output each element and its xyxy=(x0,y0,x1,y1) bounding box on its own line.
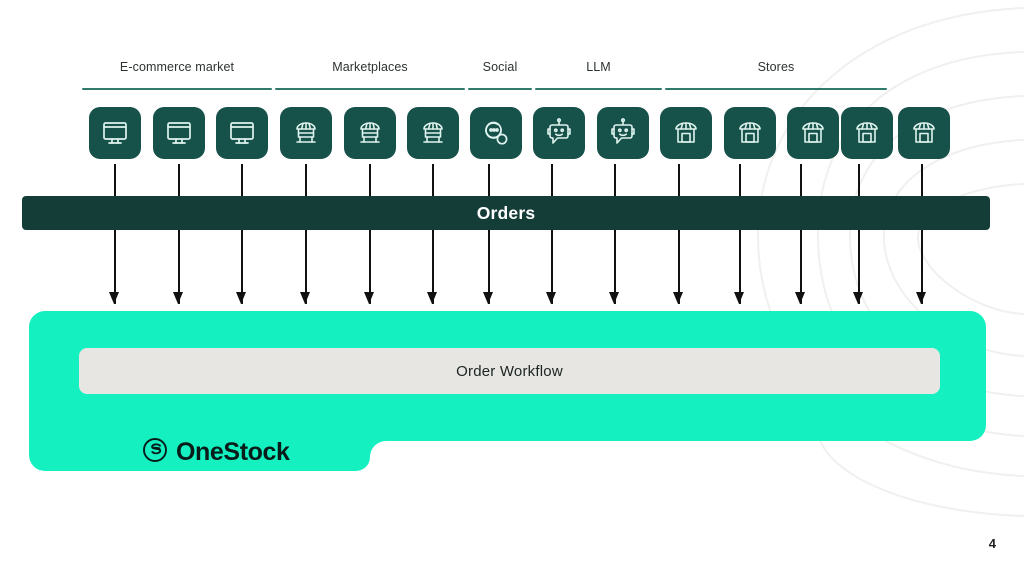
category-rule-stores xyxy=(665,88,887,90)
flow-arrow-head-6 xyxy=(427,292,437,304)
channel-tile-8[interactable] xyxy=(533,107,585,159)
channel-tile-4[interactable] xyxy=(280,107,332,159)
flow-arrow-head-8 xyxy=(546,292,556,304)
channel-tile-14[interactable] xyxy=(898,107,950,159)
marketplace-stall-icon xyxy=(354,117,386,149)
page-number: 4 xyxy=(989,536,996,551)
order-workflow-label: Order Workflow xyxy=(456,363,563,380)
flow-arrow-head-3 xyxy=(236,292,246,304)
category-label-marketplaces: Marketplaces xyxy=(275,60,465,74)
storefront-icon xyxy=(670,117,702,149)
orders-bar-label: Orders xyxy=(477,203,536,224)
flow-arrow-head-10 xyxy=(673,292,683,304)
desktop-monitor-icon xyxy=(226,117,258,149)
desktop-monitor-icon xyxy=(163,117,195,149)
channel-tile-5[interactable] xyxy=(344,107,396,159)
flow-arrow-head-4 xyxy=(300,292,310,304)
flow-arrow-line-12 xyxy=(800,164,802,304)
storefront-icon xyxy=(797,117,829,149)
orders-bar: Orders xyxy=(22,196,990,230)
marketplace-stall-icon xyxy=(417,117,449,149)
category-label-ecommerce-market: E-commerce market xyxy=(82,60,272,74)
flow-arrow-head-14 xyxy=(916,292,926,304)
channel-tile-2[interactable] xyxy=(153,107,205,159)
flow-arrow-line-6 xyxy=(432,164,434,304)
chatbot-robot-icon xyxy=(543,117,575,149)
channel-tile-1[interactable] xyxy=(89,107,141,159)
category-label-social: Social xyxy=(468,60,532,74)
flow-arrow-line-1 xyxy=(114,164,116,304)
channel-tile-3[interactable] xyxy=(216,107,268,159)
category-rule-ecommerce-market xyxy=(82,88,272,90)
category-rule-llm xyxy=(535,88,662,90)
flow-arrow-head-2 xyxy=(173,292,183,304)
flow-arrow-line-14 xyxy=(921,164,923,304)
flow-arrow-head-11 xyxy=(734,292,744,304)
category-label-stores: Stores xyxy=(665,60,887,74)
chatbot-robot-icon xyxy=(607,117,639,149)
category-label-llm: LLM xyxy=(535,60,662,74)
flow-arrow-head-13 xyxy=(853,292,863,304)
channel-tile-13[interactable] xyxy=(841,107,893,159)
flow-arrow-head-5 xyxy=(364,292,374,304)
order-workflow-box[interactable]: Order Workflow xyxy=(79,348,940,394)
onestock-wordmark: OneStock xyxy=(176,438,290,467)
chat-bubbles-icon xyxy=(480,117,512,149)
category-rule-social xyxy=(468,88,532,90)
flow-arrow-head-12 xyxy=(795,292,805,304)
flow-arrow-line-8 xyxy=(551,164,553,304)
flow-arrow-line-10 xyxy=(678,164,680,304)
flow-arrow-line-13 xyxy=(858,164,860,304)
channel-tile-6[interactable] xyxy=(407,107,459,159)
onestock-s-monogram-icon xyxy=(142,437,168,468)
flow-arrow-head-9 xyxy=(609,292,619,304)
storefront-icon xyxy=(908,117,940,149)
storefront-icon xyxy=(851,117,883,149)
channel-tile-9[interactable] xyxy=(597,107,649,159)
marketplace-stall-icon xyxy=(290,117,322,149)
flow-arrow-head-1 xyxy=(109,292,119,304)
flow-arrow-line-7 xyxy=(488,164,490,304)
slide-canvas: E-commerce market Marketplaces Social LL… xyxy=(0,0,1024,576)
flow-arrow-line-3 xyxy=(241,164,243,304)
channel-tile-11[interactable] xyxy=(724,107,776,159)
channel-tile-12[interactable] xyxy=(787,107,839,159)
onestock-logo: OneStock xyxy=(142,437,290,468)
category-rule-marketplaces xyxy=(275,88,465,90)
channel-tile-7[interactable] xyxy=(470,107,522,159)
background-arcs-decoration xyxy=(0,0,1024,576)
flow-arrow-line-9 xyxy=(614,164,616,304)
flow-arrow-line-2 xyxy=(178,164,180,304)
desktop-monitor-icon xyxy=(99,117,131,149)
flow-arrow-head-7 xyxy=(483,292,493,304)
flow-arrow-line-4 xyxy=(305,164,307,304)
flow-arrow-line-11 xyxy=(739,164,741,304)
channel-tile-10[interactable] xyxy=(660,107,712,159)
storefront-icon xyxy=(734,117,766,149)
flow-arrow-line-5 xyxy=(369,164,371,304)
